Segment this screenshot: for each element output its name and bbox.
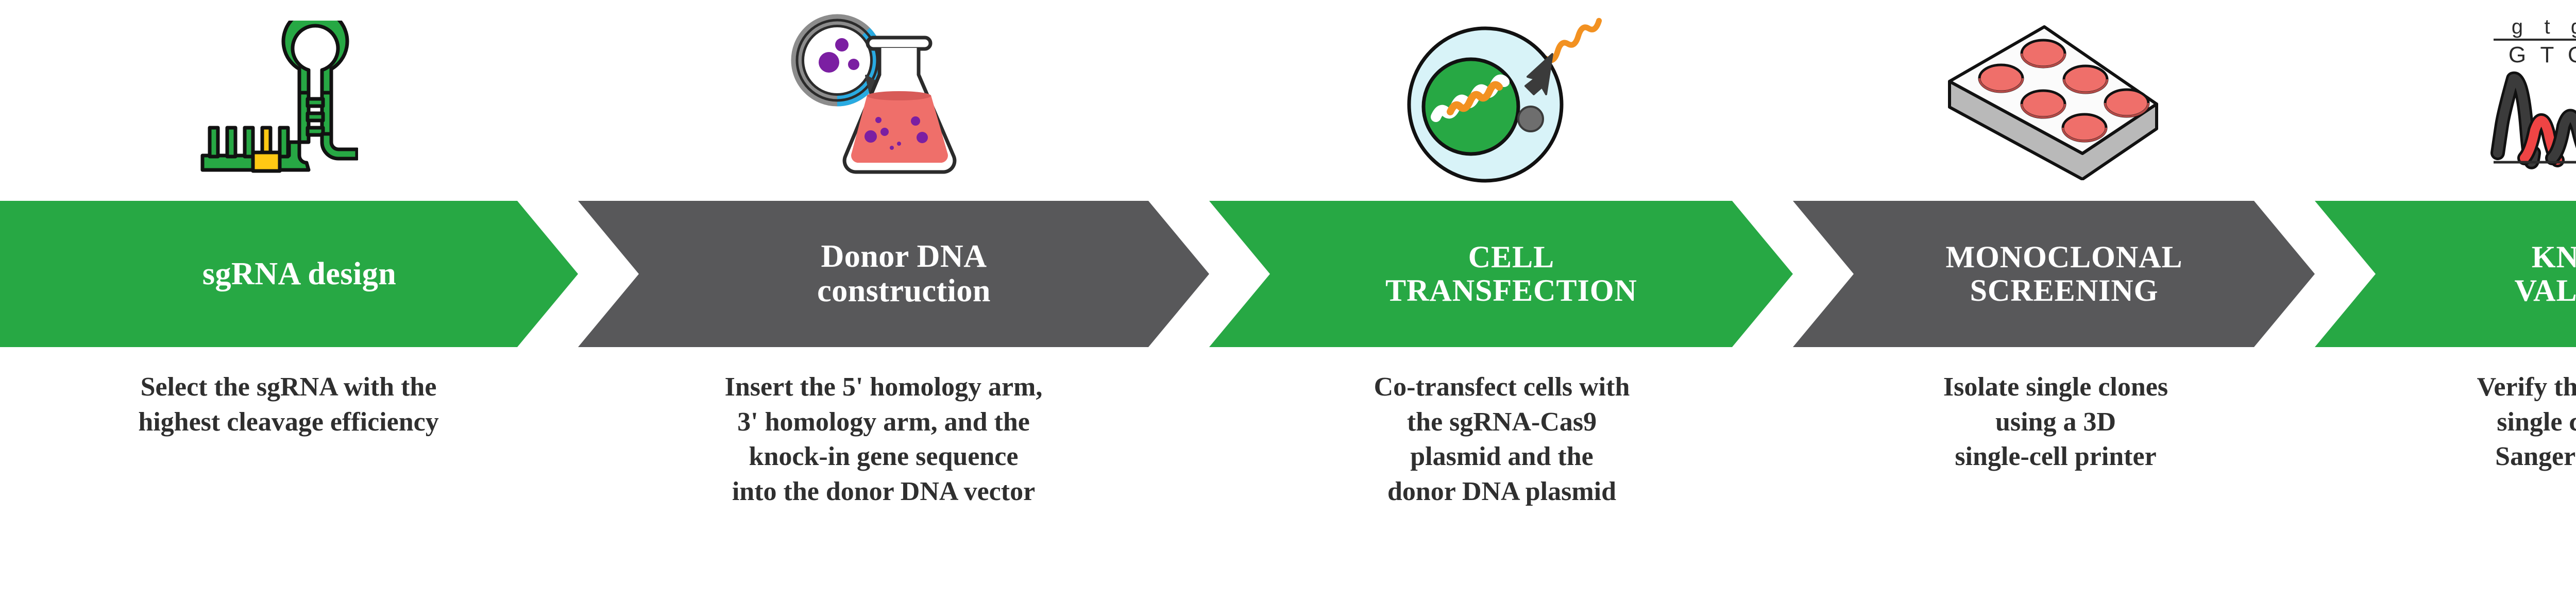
crispr-workflow-diagram: g t g a c t t G T G C C T: [0, 0, 2576, 602]
chevron-step-1[interactable]: sgRNA design: [0, 201, 578, 347]
step-3-icon: [1211, 0, 1793, 196]
chevron-step-2[interactable]: Donor DNA construction: [578, 201, 1209, 347]
svg-text:t: t: [2544, 15, 2550, 38]
reference-sequence: g t g a c t t: [2512, 15, 2576, 38]
plasmid-ring-icon: [797, 20, 877, 100]
step-2-icon: [556, 0, 1211, 196]
svg-text:G: G: [2568, 42, 2576, 67]
chevron-step-4[interactable]: MONOCLONAL SCREENING: [1793, 201, 2315, 347]
chevron-label-2: Donor DNA construction: [796, 239, 991, 308]
cell-transfection-icon: [1399, 13, 1605, 183]
erlenmeyer-flask-icon: [844, 38, 955, 172]
chevron-band: sgRNA design Donor DNA construction CELL…: [0, 201, 2576, 347]
step-4-icon: [1793, 0, 2313, 196]
svg-text:g: g: [2571, 15, 2576, 38]
svg-text:G: G: [2509, 42, 2526, 67]
caption-step-5: Verify the insertion in single clones us…: [2329, 355, 2576, 474]
caption-step-4: Isolate single clones using a 3D single-…: [1803, 355, 2308, 474]
sanger-chromatogram-icon: g t g a c t t G T G C C T: [2477, 13, 2576, 183]
svg-text:T: T: [2540, 42, 2554, 67]
caption-row: Select the sgRNA with the highest cleava…: [0, 355, 2576, 602]
chevron-label-1: sgRNA design: [182, 257, 396, 291]
sample-sequence: G T G C C T T: [2509, 42, 2576, 67]
chevron-label-5: KNOCK-IN VALIDATION: [2494, 240, 2576, 307]
step-5-icon: g t g a c t t G T G C C T: [2313, 0, 2576, 196]
chromatogram-traces: [2498, 79, 2576, 166]
plasmid-flask-icon: [775, 13, 992, 183]
caption-step-1: Select the sgRNA with the highest cleava…: [15, 355, 562, 439]
caption-step-3: Co-transfect cells with the sgRNA-Cas9 p…: [1226, 355, 1777, 509]
well-plate-icon: [1942, 15, 2164, 180]
chevron-label-4: MONOCLONAL SCREENING: [1925, 240, 2183, 307]
caption-step-2: Insert the 5' homology arm, 3' homology …: [582, 355, 1185, 509]
step-1-icon: [0, 0, 556, 196]
svg-text:g: g: [2512, 15, 2523, 38]
icon-row: g t g a c t t G T G C C T: [0, 0, 2576, 196]
chevron-step-3[interactable]: CELL TRANSFECTION: [1209, 201, 1793, 347]
chevron-step-5[interactable]: KNOCK-IN VALIDATION: [2315, 201, 2576, 347]
chevron-label-3: CELL TRANSFECTION: [1365, 240, 1637, 307]
sgrna-hairpin-icon: [198, 21, 358, 175]
